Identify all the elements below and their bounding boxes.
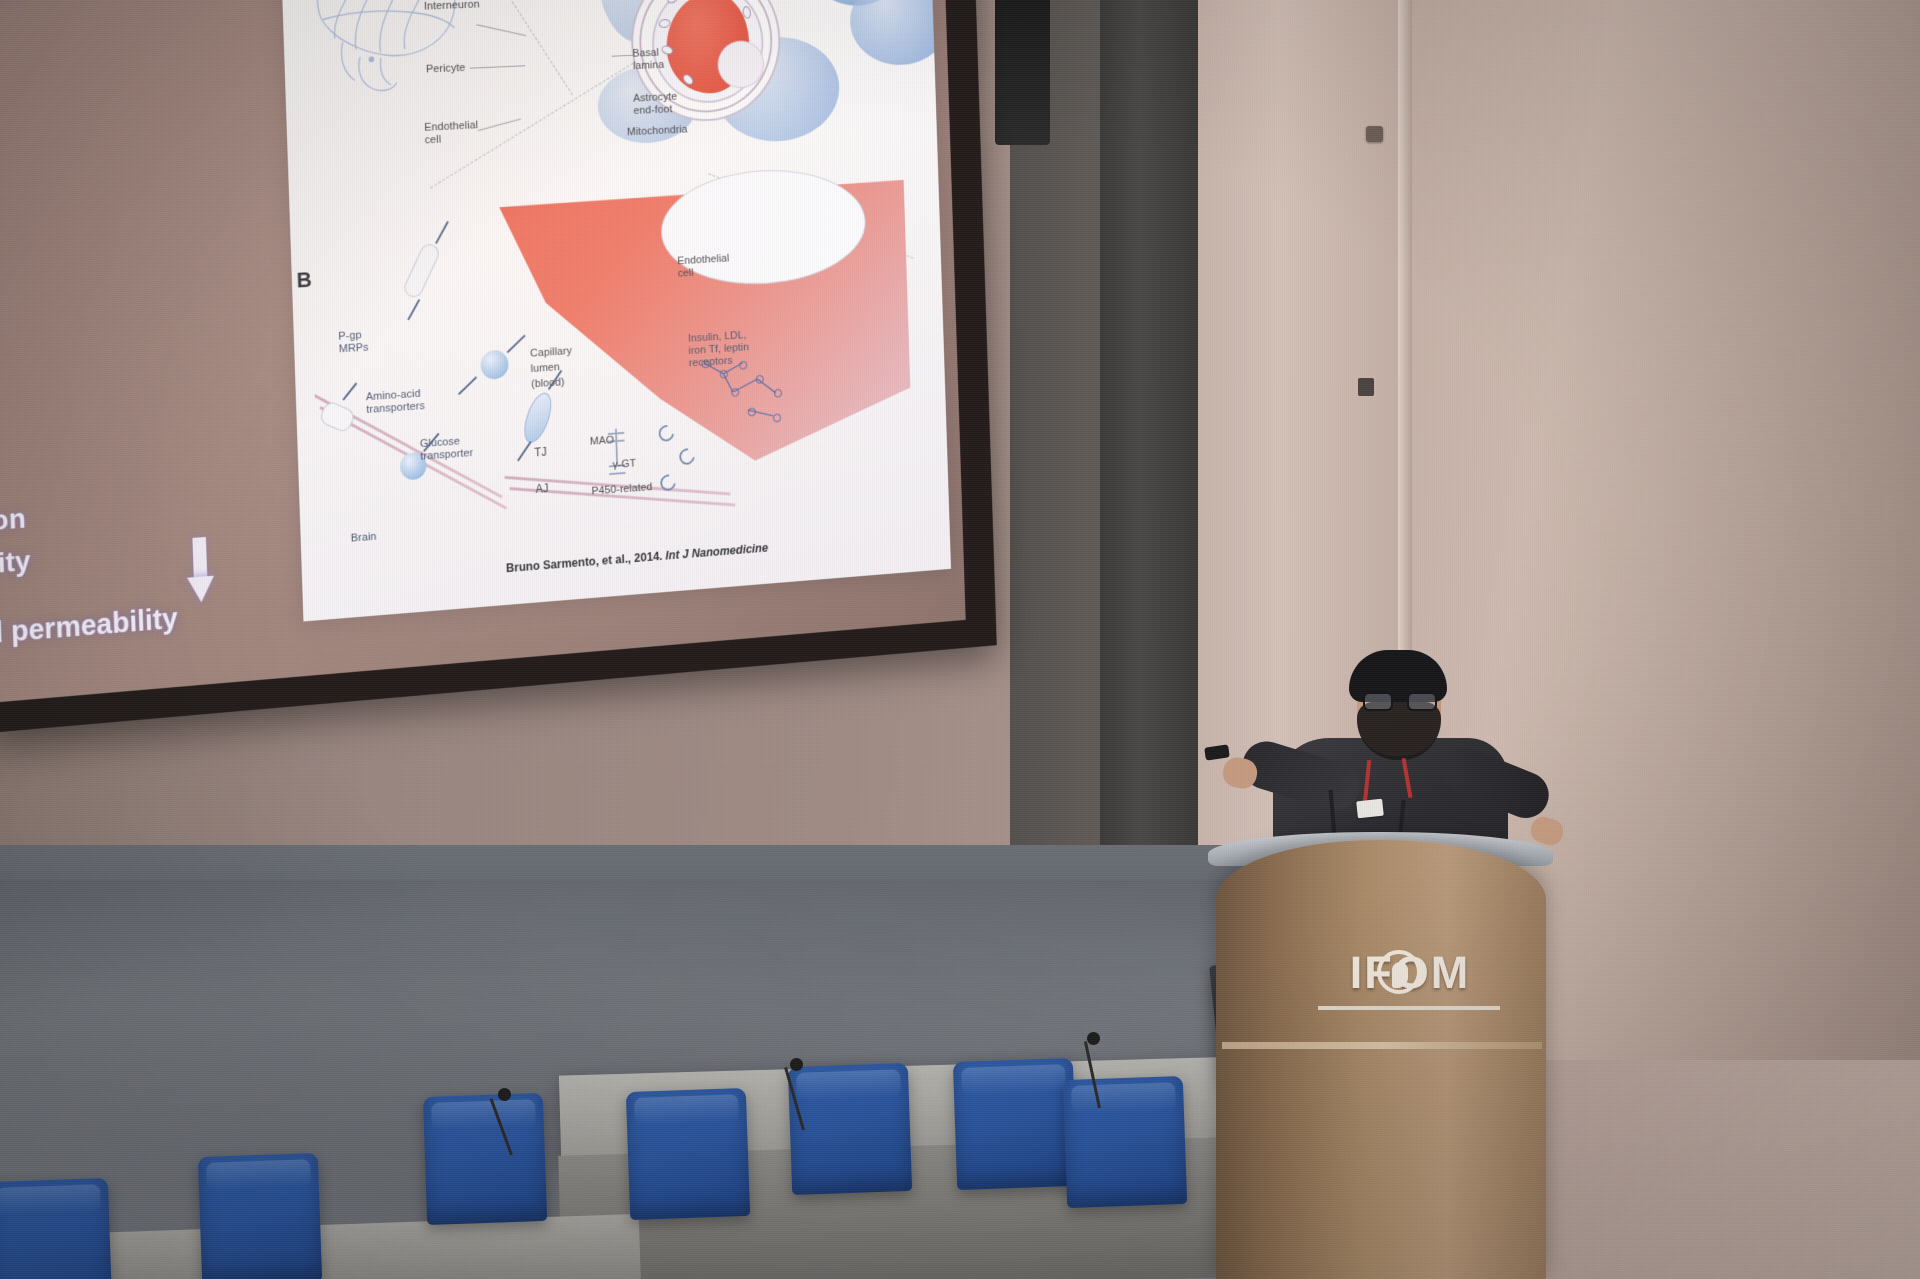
- panel-b-artwork: [308, 161, 946, 583]
- name-badge: [1356, 799, 1384, 819]
- figure-label-endothelial-cell-b: Endothelial cell: [677, 253, 730, 281]
- auditorium-seat: [423, 1093, 547, 1225]
- figure-label-ggt: γ-GT: [612, 458, 636, 472]
- wall-recess-dark: [1100, 0, 1198, 880]
- auditorium-seat: [1063, 1076, 1187, 1208]
- slide-bullets-bottom: unctions and efflux orters ce of fenestr…: [0, 354, 254, 600]
- ifom-logo-mark-icon: [1377, 950, 1421, 994]
- wall-sensor-icon: [1366, 126, 1383, 142]
- microphone-head-icon: [1087, 1032, 1100, 1045]
- figure-label-interneuron: Interneuron: [424, 0, 480, 13]
- auditorium-seat: [198, 1153, 322, 1279]
- figure-label-astrocyte-end-foot: Astrocyte end-foot: [633, 91, 678, 118]
- figure-label-amino-acid-transporters: Amino-acid transporters: [366, 388, 425, 417]
- figure-label-receptors: Insulin, LDL, iron Tf, leptin receptors: [688, 329, 750, 370]
- microphone-head-icon: [498, 1088, 511, 1101]
- figure-label-pgp-mrps: P-gp MRPs: [338, 329, 369, 356]
- ceiling-speaker: [995, 0, 1050, 145]
- panel-a-artwork: [434, 0, 946, 177]
- projection-screen-frame: stasis of the brain nvironment es, neuro…: [0, 0, 997, 733]
- figure-label-aj: AJ: [535, 482, 548, 495]
- podium: [1216, 840, 1546, 1279]
- microphone-head-icon: [790, 1058, 803, 1071]
- slide-text-column: stasis of the brain nvironment es, neuro…: [0, 0, 254, 600]
- podium-trim: [1222, 1042, 1542, 1049]
- glasses-icon: [1363, 692, 1437, 712]
- projection-screen-surface: stasis of the brain nvironment es, neuro…: [0, 0, 966, 703]
- figure-label-capillary-lumen: Capillary lumen (blood): [530, 343, 573, 392]
- wall-outlet-icon: [1358, 378, 1374, 396]
- down-arrow-icon: [186, 536, 215, 607]
- slide-figure: A: [279, 0, 951, 621]
- lecture-hall-photo: stasis of the brain nvironment es, neuro…: [0, 0, 1920, 1279]
- ifom-logo-underline: [1318, 1006, 1500, 1010]
- figure-label-glucose-transporter: Glucose transporter: [420, 435, 474, 464]
- slide-conclusion: lled permeability: [0, 603, 178, 654]
- figure-label-pericyte: Pericyte: [426, 62, 466, 76]
- auditorium-seat: [0, 1178, 112, 1279]
- figure-label-brain: Brain: [351, 531, 377, 546]
- figure-label-endothelial-cell: Endothelial cell: [424, 120, 479, 148]
- figure-label-tj: TJ: [534, 446, 547, 459]
- auditorium-seat: [788, 1063, 912, 1195]
- auditorium-seat: [953, 1058, 1077, 1190]
- slide-bullets-top: stasis of the brain nvironment es, neuro…: [0, 0, 239, 155]
- auditorium-seat: [626, 1088, 750, 1220]
- figure-label-basal-lamina: Basal lamina: [632, 47, 664, 73]
- figure-label-mao: MAO: [590, 435, 615, 449]
